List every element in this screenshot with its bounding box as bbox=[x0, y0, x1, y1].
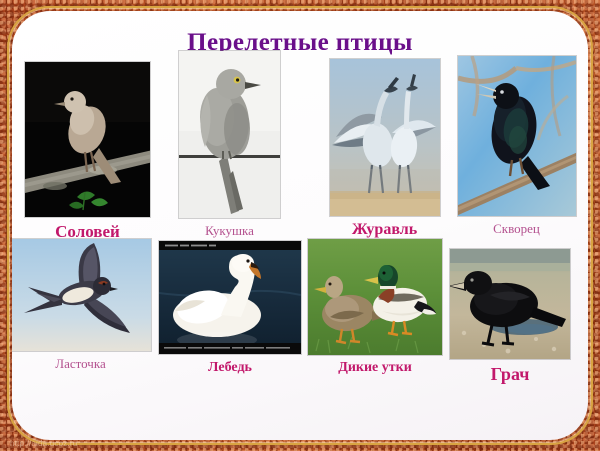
bird-grid: Соловей bbox=[12, 11, 588, 440]
bird-caption: Скворец bbox=[454, 221, 579, 237]
slide-root: Перелетные птицы bbox=[0, 0, 600, 451]
bird-caption: Грач bbox=[450, 364, 570, 385]
slide-panel: Перелетные птицы bbox=[12, 11, 588, 440]
starling-photo bbox=[458, 56, 576, 216]
nightingale-photo bbox=[25, 62, 150, 217]
bird-caption: Журавль bbox=[322, 221, 447, 239]
cuckoo-photo bbox=[179, 51, 280, 218]
bird-caption: Дикие утки bbox=[308, 360, 442, 376]
source-watermark: http://aida.ucoz.ru bbox=[10, 439, 77, 448]
swan-photo bbox=[159, 241, 301, 354]
rook-photo bbox=[450, 249, 570, 359]
swallow-photo bbox=[12, 239, 151, 351]
wild-ducks-photo bbox=[308, 239, 442, 355]
bird-caption: Кукушка bbox=[167, 223, 292, 239]
bird-caption: Лебедь bbox=[159, 360, 301, 376]
bird-caption: Ласточка bbox=[12, 356, 151, 372]
crane-photo bbox=[330, 59, 440, 216]
